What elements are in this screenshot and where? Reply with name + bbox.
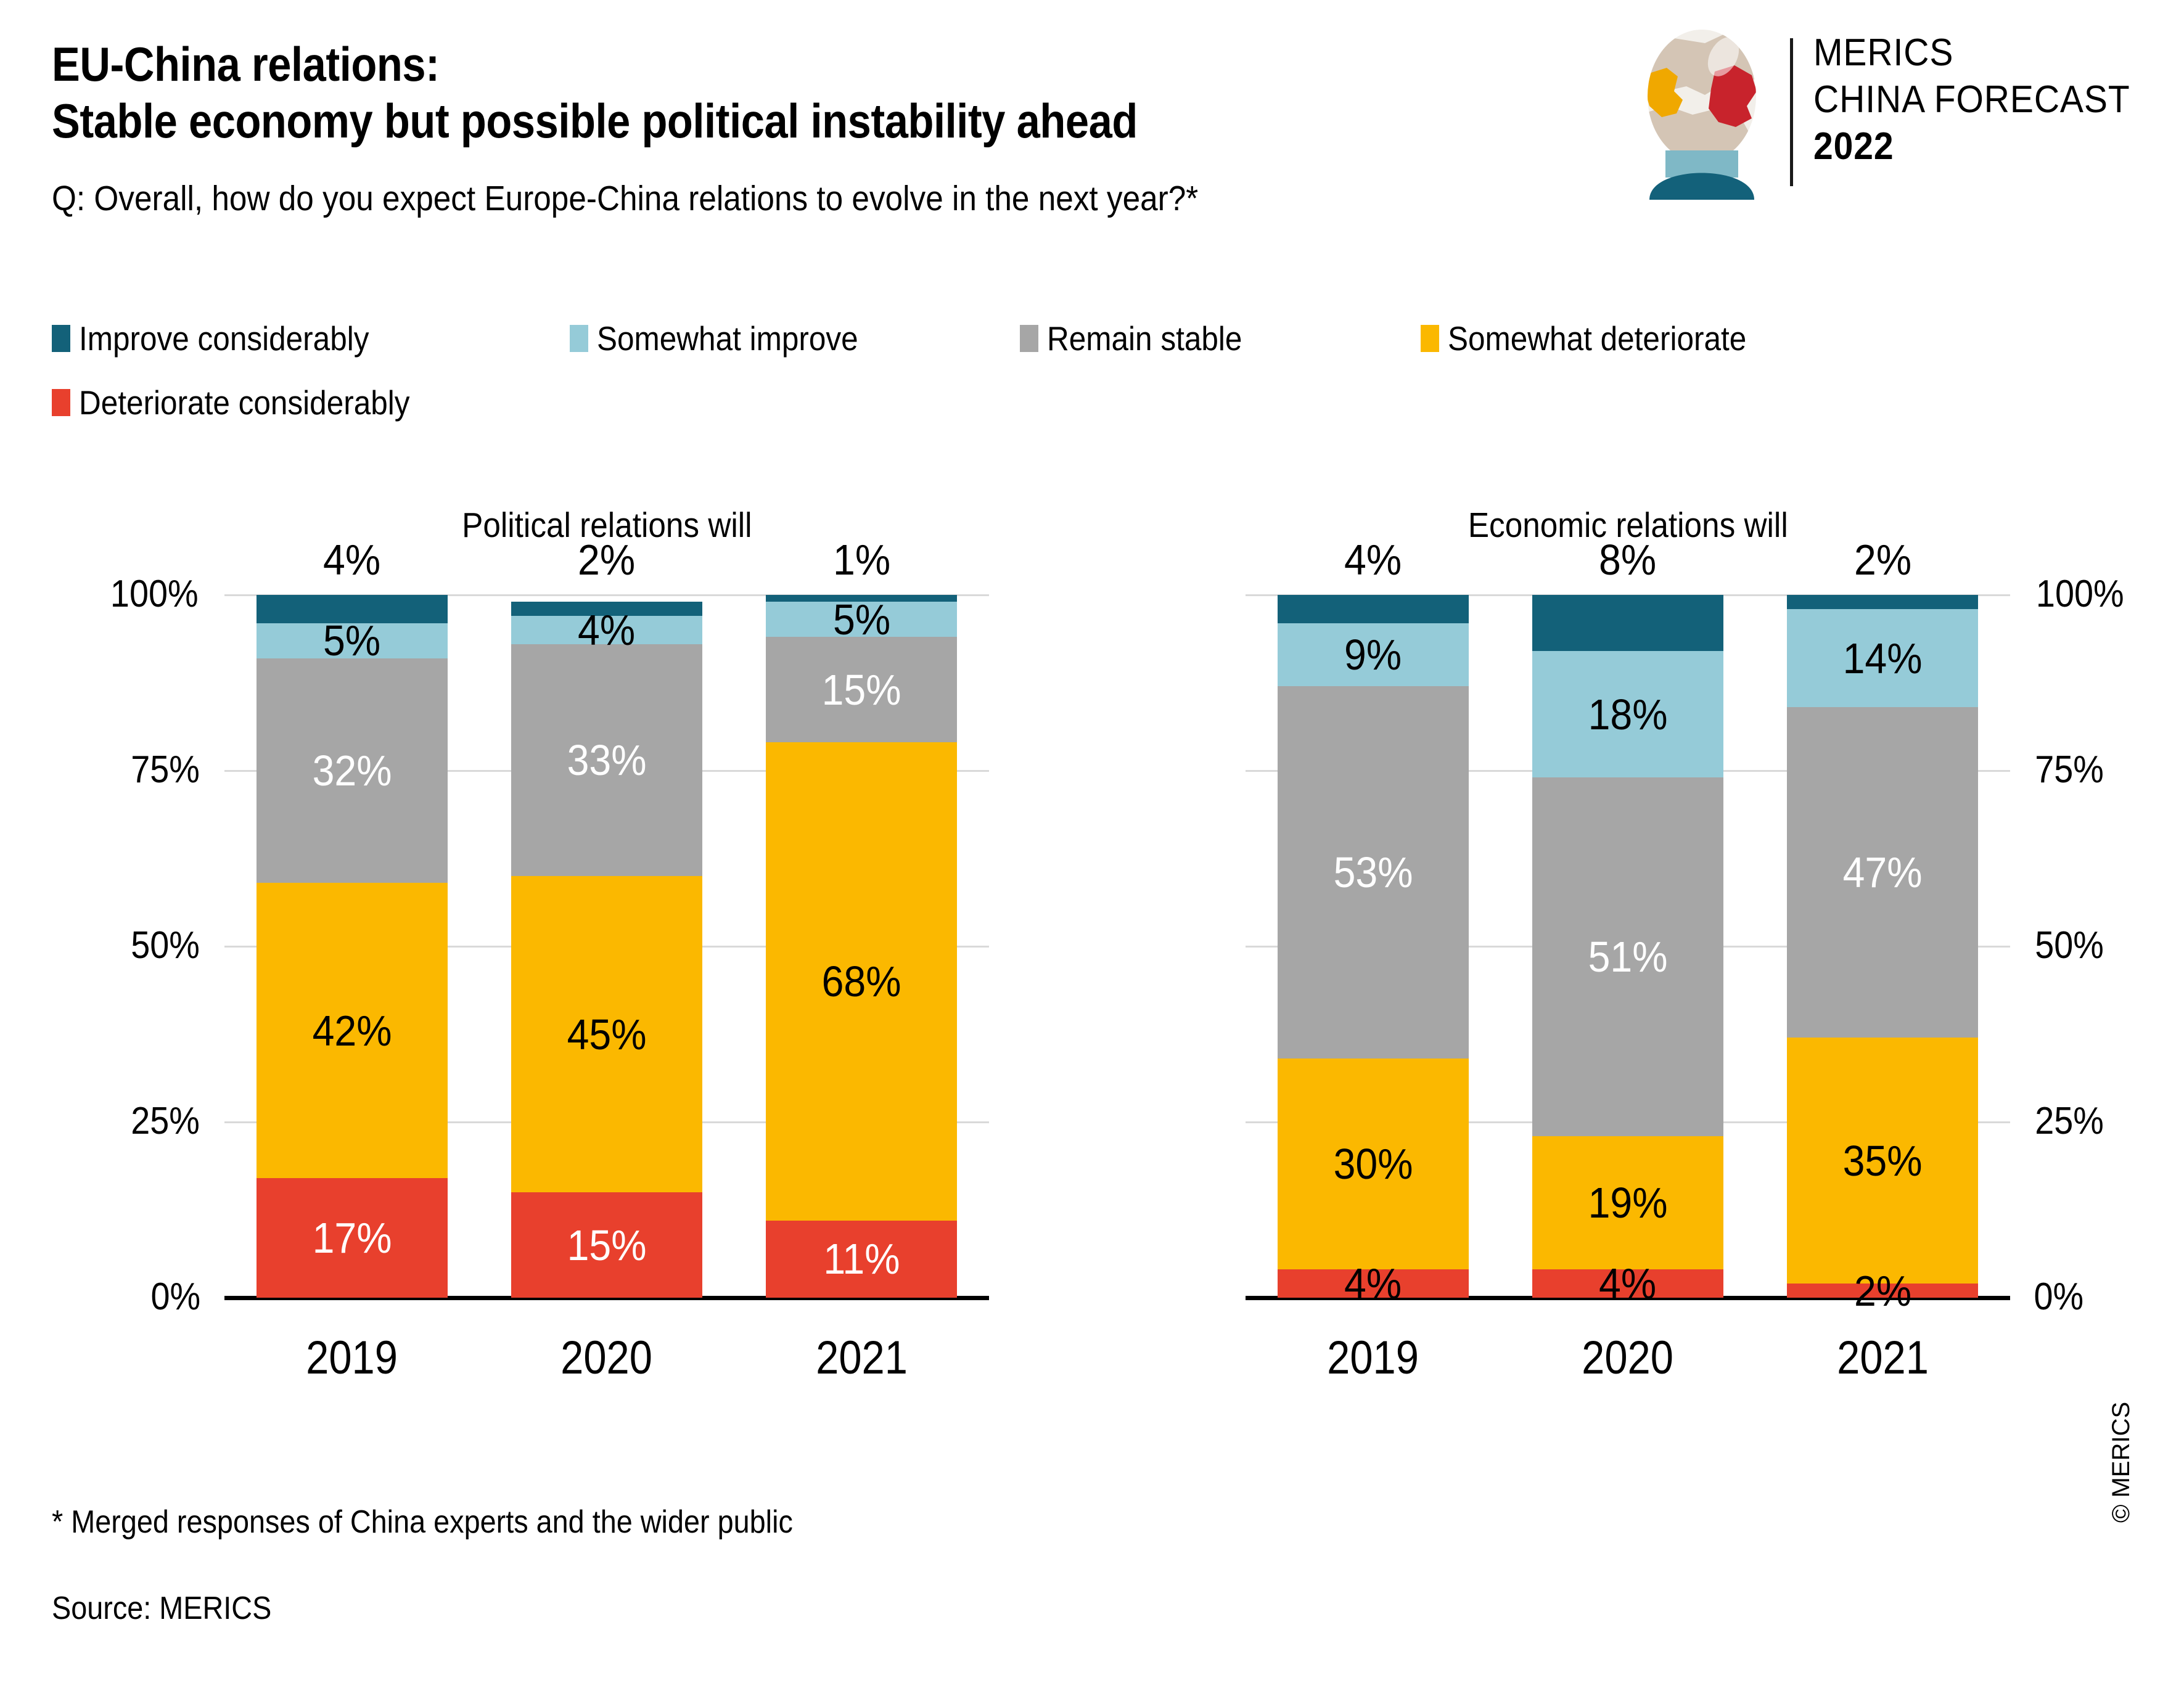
bar-value-label: 35% <box>1787 1139 1978 1182</box>
x-axis-tick-label: 2019 <box>1246 1335 1500 1382</box>
bar-value-text: 9% <box>1344 633 1402 676</box>
y-axis-tick-text: 75% <box>131 751 200 789</box>
y-axis-tick-text: 0% <box>2034 1278 2083 1316</box>
bar-value-label: 47% <box>1787 851 1978 894</box>
y-axis-tick-label: 50% <box>2031 927 2184 965</box>
bar-segment-improve-considerably[interactable] <box>1532 595 1723 651</box>
footnote-text: * Merged responses of China experts and … <box>52 1504 793 1540</box>
logo-divider <box>1790 38 1793 186</box>
stacked-bar-2021[interactable] <box>1787 595 1978 1298</box>
y-axis-tick-label: 100% <box>2031 575 2184 613</box>
legend-swatch-icon <box>1421 325 1439 352</box>
legend-swatch-icon <box>52 325 70 352</box>
bar-value-label: 45% <box>511 1013 702 1056</box>
bar-value-text: 14% <box>1843 637 1923 680</box>
bar-value-text: 5% <box>833 598 890 641</box>
bar-value-label: 51% <box>1532 935 1723 978</box>
legend-item-remain-stable[interactable]: Remain stable <box>1020 319 1264 358</box>
bar-segment-improve-considerably[interactable] <box>1278 595 1469 623</box>
legend-label: Somewhat improve <box>597 321 858 356</box>
bar-value-text: 2% <box>1854 538 1911 581</box>
y-axis-tick-text: 75% <box>2035 751 2104 789</box>
bar-top-value-label: 2% <box>1787 538 1978 581</box>
legend-swatch-icon <box>570 325 588 352</box>
legend-item-deteriorate-considerably[interactable]: Deteriorate considerably <box>52 383 446 422</box>
bar-value-label: 17% <box>257 1216 448 1259</box>
logo-line-year: 2022 <box>1813 123 2130 170</box>
bar-value-text: 17% <box>312 1216 392 1259</box>
bar-value-label: 4% <box>511 608 702 652</box>
bar-value-text: 53% <box>1333 851 1413 894</box>
title-line-1: EU-China relations: <box>52 36 1435 92</box>
merics-logo: MERICS CHINA FORECAST 2022 <box>1631 23 2161 208</box>
bar-value-text: 32% <box>312 749 392 792</box>
merics-globe-icon <box>1631 27 1773 200</box>
legend-item-improve-considerably[interactable]: Improve considerably <box>52 319 401 358</box>
legend-label: Somewhat deteriorate <box>1448 321 1746 356</box>
x-axis-tick-label: 2020 <box>479 1335 734 1382</box>
page-title: EU-China relations: Stable economy but p… <box>52 36 1624 149</box>
bar-value-label: 42% <box>257 1009 448 1052</box>
bar-top-value-label: 4% <box>257 538 448 581</box>
x-axis-tick-text: 2019 <box>306 1335 398 1382</box>
bar-value-label: 5% <box>766 598 957 641</box>
bar-value-label: 19% <box>1532 1181 1723 1224</box>
bar-value-label: 14% <box>1787 637 1978 680</box>
bar-value-label: 68% <box>766 960 957 1003</box>
y-axis-tick-text: 25% <box>131 1102 200 1140</box>
bar-value-label: 9% <box>1278 633 1469 676</box>
y-axis-tick-text: 100% <box>2036 575 2124 613</box>
x-axis-tick-label: 2019 <box>224 1335 479 1382</box>
y-axis-tick-text: 50% <box>2035 927 2104 965</box>
source-text: Source: MERICS <box>52 1591 271 1626</box>
copyright-notice: © MERICS <box>2109 1402 2133 1523</box>
bar-value-text: 35% <box>1843 1139 1923 1182</box>
stacked-bar-2020[interactable] <box>511 595 702 1298</box>
bar-value-text: 15% <box>822 668 901 711</box>
x-axis-tick-label: 2020 <box>1500 1335 1755 1382</box>
y-axis-tick-label: 100% <box>52 575 203 613</box>
bar-value-text: 18% <box>1588 693 1668 736</box>
title-line-2: Stable economy but possible political in… <box>52 92 1435 149</box>
x-axis-tick-text: 2021 <box>1837 1335 1929 1382</box>
source-note: Source: MERICS <box>52 1591 296 1626</box>
bar-value-label: 15% <box>511 1224 702 1267</box>
bar-value-text: 4% <box>1344 538 1402 581</box>
bar-value-text: 30% <box>1333 1142 1413 1185</box>
bar-segment-improve-considerably[interactable] <box>1787 595 1978 609</box>
bar-value-text: 5% <box>323 619 380 662</box>
bar-value-text: 2% <box>578 538 635 581</box>
y-axis-tick-label: 50% <box>52 927 203 965</box>
logo-line-china-forecast: CHINA FORECAST <box>1813 76 2130 123</box>
legend-label: Remain stable <box>1047 321 1242 356</box>
bar-value-label: 33% <box>511 739 702 782</box>
bar-value-text: 11% <box>823 1237 900 1280</box>
bar-value-text: 4% <box>578 608 635 652</box>
legend-label: Deteriorate considerably <box>79 385 410 420</box>
bar-value-label: 32% <box>257 749 448 792</box>
legend-item-somewhat-improve[interactable]: Somewhat improve <box>570 319 887 358</box>
y-axis-tick-label: 0% <box>2031 1278 2184 1316</box>
bar-top-value-label: 2% <box>511 538 702 581</box>
bar-value-text: 2% <box>1854 1269 1911 1312</box>
x-axis-tick-text: 2020 <box>1582 1335 1674 1382</box>
bar-value-label: 30% <box>1278 1142 1469 1185</box>
y-axis-tick-label: 75% <box>2031 751 2184 789</box>
bar-top-value-label: 8% <box>1532 538 1723 581</box>
bar-value-text: 68% <box>822 960 901 1003</box>
chart-panel-economic: Economic relations will100%75%50%25%0%4%… <box>1159 506 2121 1458</box>
legend-swatch-icon <box>52 389 70 416</box>
stacked-bar-2019[interactable] <box>1278 595 1469 1298</box>
bar-value-text: 8% <box>1599 538 1656 581</box>
bar-value-text: 4% <box>1599 1262 1656 1305</box>
bar-value-label: 11% <box>766 1237 957 1280</box>
bar-value-text: 45% <box>567 1013 647 1056</box>
bar-value-label: 53% <box>1278 851 1469 894</box>
bar-value-label: 4% <box>1278 1262 1469 1305</box>
bar-value-text: 33% <box>567 739 647 782</box>
x-axis-tick-label: 2021 <box>734 1335 989 1382</box>
bar-value-label: 4% <box>1532 1262 1723 1305</box>
header: EU-China relations: Stable economy but p… <box>0 0 2184 247</box>
bar-value-text: 19% <box>1588 1181 1668 1224</box>
bar-value-label: 18% <box>1532 693 1723 736</box>
y-axis-tick-text: 0% <box>151 1278 201 1316</box>
bar-value-text: 4% <box>1344 1262 1402 1305</box>
legend-swatch-icon <box>1020 325 1038 352</box>
y-axis-tick-label: 25% <box>52 1102 203 1140</box>
y-axis-tick-label: 0% <box>52 1278 203 1316</box>
bar-value-text: 1% <box>833 538 890 581</box>
y-axis-tick-text: 50% <box>131 927 200 965</box>
bar-value-text: 42% <box>312 1009 392 1052</box>
bar-value-label: 15% <box>766 668 957 711</box>
chart-panel-political: Political relations will100%75%50%25%0%1… <box>52 506 1014 1458</box>
y-axis-tick-text: 100% <box>110 575 199 613</box>
x-axis-tick-label: 2021 <box>1755 1335 2010 1382</box>
bar-top-value-label: 1% <box>766 538 957 581</box>
y-axis-tick-text: 25% <box>2035 1102 2104 1140</box>
stacked-bar-2019[interactable] <box>257 595 448 1298</box>
legend-label: Improve considerably <box>79 321 369 356</box>
x-axis-tick-text: 2021 <box>816 1335 908 1382</box>
logo-line-merics: MERICS <box>1813 30 2130 76</box>
bar-top-value-label: 4% <box>1278 538 1469 581</box>
footnote: * Merged responses of China experts and … <box>52 1504 875 1540</box>
question-subtitle: Q: Overall, how do you expect Europe-Chi… <box>52 179 1198 218</box>
x-axis-tick-text: 2020 <box>561 1335 653 1382</box>
bar-value-text: 15% <box>567 1224 647 1267</box>
logo-text: MERICS CHINA FORECAST 2022 <box>1813 30 2157 170</box>
y-axis-tick-label: 75% <box>52 751 203 789</box>
y-axis-tick-label: 25% <box>2031 1102 2184 1140</box>
x-axis-tick-text: 2019 <box>1327 1335 1419 1382</box>
bar-value-label: 5% <box>257 619 448 662</box>
bar-value-label: 2% <box>1787 1269 1978 1312</box>
bar-value-text: 47% <box>1843 851 1923 894</box>
bar-value-text: 51% <box>1588 935 1668 978</box>
bar-value-text: 4% <box>323 538 380 581</box>
legend-item-somewhat-deteriorate[interactable]: Somewhat deteriorate <box>1421 319 1780 358</box>
